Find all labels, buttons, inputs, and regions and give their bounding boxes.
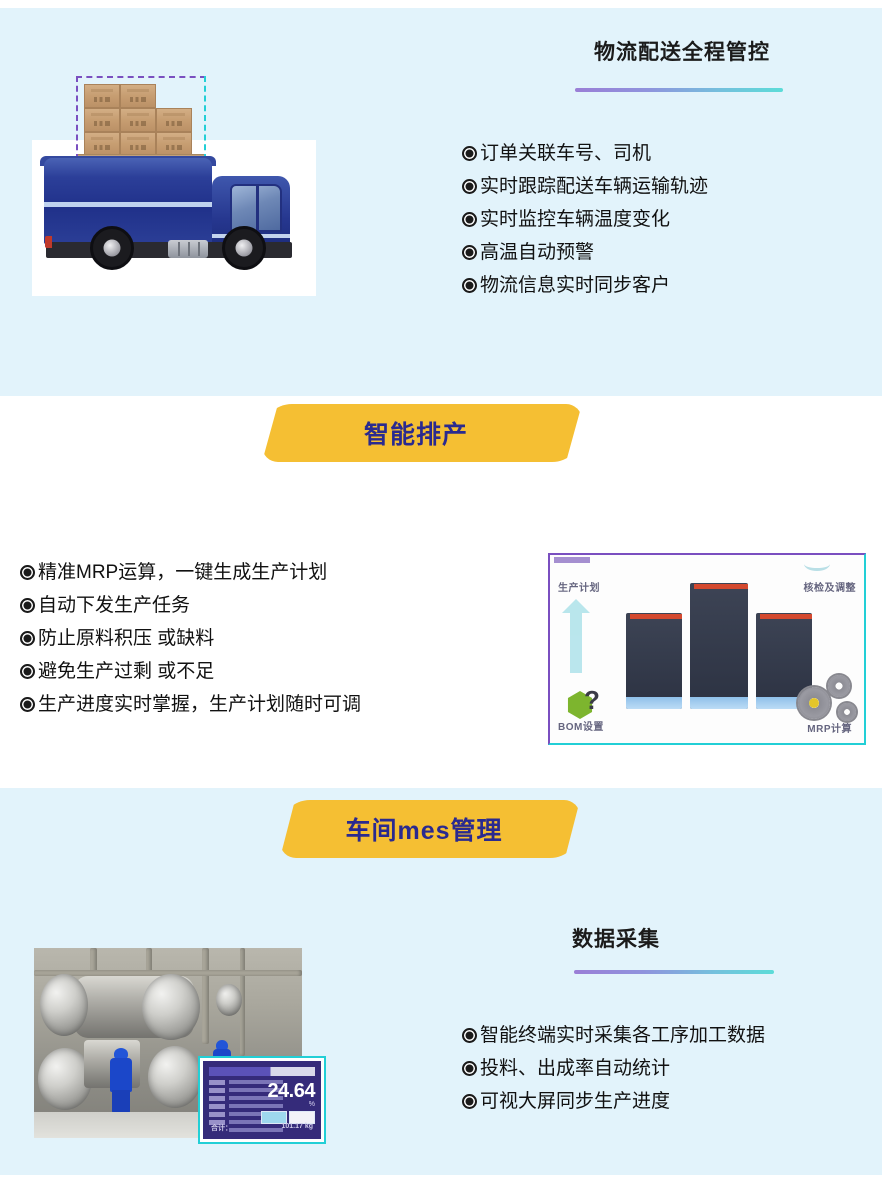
- carton-box: [156, 132, 192, 156]
- carton-box: [84, 84, 120, 108]
- carton-box: [156, 108, 192, 132]
- list-item: 智能终端实时采集各工序加工数据: [462, 1019, 765, 1052]
- carton-box: [120, 84, 156, 108]
- selection-edge-left: [76, 76, 78, 160]
- data-collection-title-underline: [574, 970, 774, 974]
- truck-canvas: [32, 74, 316, 296]
- diagram-swirl-icon: [804, 557, 830, 571]
- diagram-label-bom-setup: BOM设置: [558, 718, 604, 733]
- list-item-label: 投料、出成率自动统计: [480, 1052, 670, 1085]
- bullet-dot-icon: [462, 146, 477, 161]
- list-item-label: 精准MRP运算，一键生成生产计划: [38, 556, 327, 589]
- autoclave-door: [40, 974, 88, 1036]
- selection-edge-right: [204, 76, 206, 160]
- bullet-dot-icon: [462, 245, 477, 260]
- hmi-unit: %: [309, 1101, 315, 1108]
- question-mark-icon: ?: [584, 687, 600, 713]
- list-item: 实时监控车辆温度变化: [462, 203, 708, 236]
- list-item: 订单关联车号、司机: [462, 137, 708, 170]
- pallet-stack: [84, 84, 194, 157]
- truck-body-stripe: [44, 202, 212, 207]
- carton-box: [84, 108, 120, 132]
- list-item: 精准MRP运算，一键生成生产计划: [20, 556, 361, 589]
- bullet-dot-icon: [462, 179, 477, 194]
- scheduling-bullet-list: 精准MRP运算，一键生成生产计划 自动下发生产任务 防止原料积压 或缺料 避免生…: [20, 556, 361, 721]
- mes-banner: 车间mes管理: [280, 800, 580, 858]
- list-item-label: 防止原料积压 或缺料: [38, 622, 214, 655]
- hmi-title-bar: [209, 1067, 315, 1076]
- scheduling-banner-label: 智能排产: [364, 415, 468, 451]
- hmi-screen-inset: 24.64 % 合计： 101.17 kg: [200, 1058, 324, 1142]
- list-item: 避免生产过剩 或不足: [20, 655, 361, 688]
- bullet-dot-icon: [462, 278, 477, 293]
- truck-fuel-tank: [168, 240, 208, 258]
- truck-front-wheel: [222, 226, 266, 270]
- list-item-label: 生产进度实时掌握，生产计划随时可调: [38, 688, 361, 721]
- mes-banner-label: 车间mes管理: [345, 811, 502, 847]
- carton-box: [84, 132, 120, 156]
- gear-icon: [798, 687, 830, 719]
- bullet-dot-icon: [462, 1094, 477, 1109]
- list-item-label: 物流信息实时同步客户: [480, 269, 670, 302]
- list-item: 生产进度实时掌握，生产计划随时可调: [20, 688, 361, 721]
- bullet-dot-icon: [462, 1061, 477, 1076]
- truck-taillight: [45, 236, 52, 248]
- worker-body: [110, 1058, 132, 1092]
- diagram-label-production-plan: 生产计划: [558, 579, 600, 594]
- diagram-label-review-adjust: 核检及调整: [804, 579, 857, 594]
- truck-rear-wheel: [90, 226, 134, 270]
- autoclave-door: [216, 984, 242, 1016]
- scheduling-banner: 智能排产: [262, 404, 582, 462]
- worker-legs: [112, 1090, 130, 1114]
- list-item-label: 避免生产过剩 或不足: [38, 655, 214, 688]
- carton-box: [120, 108, 156, 132]
- list-item-label: 订单关联车号、司机: [480, 137, 651, 170]
- bullet-dot-icon: [20, 565, 35, 580]
- autoclave-door: [142, 974, 200, 1040]
- gear-icon: [828, 675, 850, 697]
- hmi-side-labels: [209, 1080, 225, 1124]
- hmi-footer: 合计： 101.17 kg: [211, 1123, 313, 1133]
- list-item-label: 实时监控车辆温度变化: [480, 203, 670, 236]
- server-rack: [690, 583, 748, 709]
- logistics-bullet-list: 订单关联车号、司机 实时跟踪配送车辆运输轨迹 实时监控车辆温度变化 高温自动预警…: [462, 137, 708, 302]
- mrp-flow-diagram: 生产计划 核检及调整 BOM设置 MRP计算 ?: [548, 553, 866, 745]
- bullet-dot-icon: [20, 598, 35, 613]
- list-item-label: 自动下发生产任务: [38, 589, 190, 622]
- hmi-value: 24.64: [267, 1081, 315, 1101]
- list-item: 可视大屏同步生产进度: [462, 1085, 765, 1118]
- list-item: 高温自动预警: [462, 236, 708, 269]
- logistics-title: 物流配送全程管控: [594, 36, 770, 66]
- gear-icon: [838, 703, 856, 721]
- list-item: 防止原料积压 或缺料: [20, 622, 361, 655]
- diagram-label-mrp-calc: MRP计算: [807, 720, 852, 735]
- truck-cargo-body: [44, 158, 212, 244]
- list-item: 实时跟踪配送车辆运输轨迹: [462, 170, 708, 203]
- factory-pipe: [202, 948, 209, 1044]
- delivery-truck-illustration: [32, 74, 316, 296]
- list-item-label: 可视大屏同步生产进度: [480, 1085, 670, 1118]
- truck-window-divider: [256, 184, 259, 232]
- list-item-label: 高温自动预警: [480, 236, 594, 269]
- carton-box: [120, 132, 156, 156]
- list-item: 自动下发生产任务: [20, 589, 361, 622]
- diagram-accent-bar: [554, 557, 590, 563]
- bullet-dot-icon: [462, 1028, 477, 1043]
- up-arrow-icon: [570, 611, 582, 673]
- hmi-footer-value: 101.17 kg: [281, 1123, 313, 1133]
- server-rack: [626, 613, 682, 709]
- bullet-dot-icon: [20, 631, 35, 646]
- autoclave-door: [148, 1046, 202, 1108]
- data-collection-title: 数据采集: [572, 923, 660, 953]
- list-item-label: 智能终端实时采集各工序加工数据: [480, 1019, 765, 1052]
- list-item: 物流信息实时同步客户: [462, 269, 708, 302]
- bullet-dot-icon: [462, 212, 477, 227]
- list-item: 投料、出成率自动统计: [462, 1052, 765, 1085]
- promo-page: 物流配送全程管控 订单关联车号、司机 实时跟踪配送车辆运输轨迹 实时监控车辆温度…: [0, 0, 882, 1200]
- list-item-label: 实时跟踪配送车辆运输轨迹: [480, 170, 708, 203]
- bullet-dot-icon: [20, 664, 35, 679]
- bullet-dot-icon: [20, 697, 35, 712]
- selection-edge-top: [76, 76, 206, 78]
- logistics-title-underline: [575, 88, 783, 92]
- hmi-footer-label: 合计：: [211, 1123, 232, 1133]
- mes-bullet-list: 智能终端实时采集各工序加工数据 投料、出成率自动统计 可视大屏同步生产进度: [462, 1019, 765, 1118]
